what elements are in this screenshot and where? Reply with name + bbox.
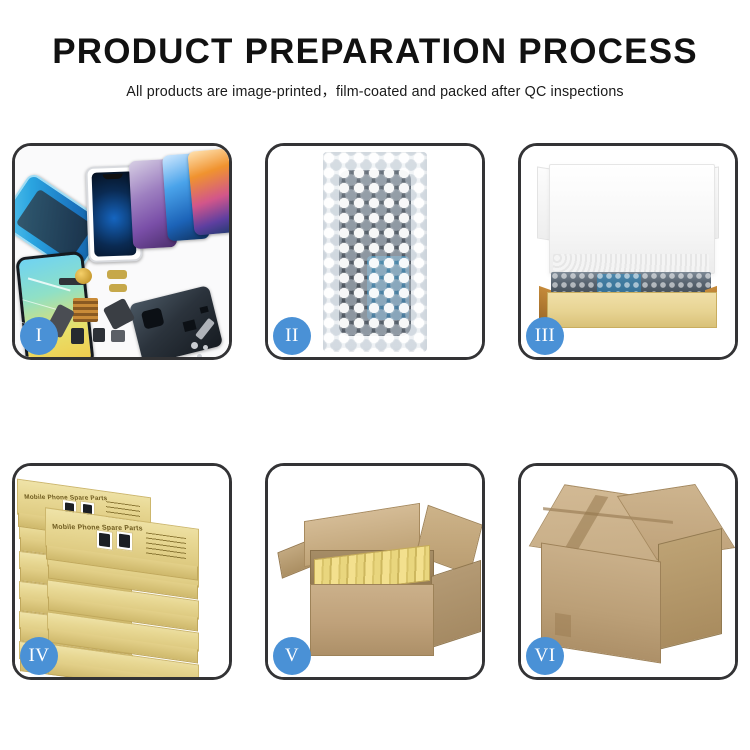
circuit-board-component-icon bbox=[73, 298, 98, 322]
orange-phone-display-image bbox=[187, 148, 229, 235]
step-badge-1: I bbox=[20, 317, 58, 355]
page-title: PRODUCT PREPARATION PROCESS bbox=[0, 34, 750, 71]
kraft-box-base-image bbox=[547, 292, 717, 328]
step-badge-3: III bbox=[526, 317, 564, 355]
step-badge-6: VI bbox=[526, 637, 564, 675]
box-artwork-thumb-d bbox=[116, 530, 133, 551]
step-badge-4: IV bbox=[20, 637, 58, 675]
button-component-icon bbox=[71, 328, 84, 344]
bubble-wrap-texture bbox=[323, 152, 427, 352]
vibrator-component-icon bbox=[93, 328, 105, 342]
process-step-panel-6[interactable]: VI bbox=[518, 463, 738, 680]
process-step-panel-3[interactable]: III bbox=[518, 143, 738, 360]
box-spec-lines-b bbox=[146, 532, 186, 560]
camera-lens-component-icon bbox=[75, 268, 92, 284]
step-badge-2: II bbox=[273, 317, 311, 355]
process-steps-grid: I II III bbox=[12, 143, 738, 680]
process-step-panel-1[interactable]: I bbox=[12, 143, 232, 360]
process-step-panel-2[interactable]: II bbox=[265, 143, 485, 360]
carton-front-panel-image bbox=[310, 584, 434, 656]
bubble-wrapped-parts-row-image bbox=[551, 272, 711, 294]
sealed-carton-side-panel-image bbox=[658, 528, 722, 650]
process-step-panel-5[interactable]: V bbox=[265, 463, 485, 680]
screws-icon bbox=[191, 342, 198, 349]
bubble-wrap-pouch-image bbox=[323, 152, 427, 352]
step-badge-5: V bbox=[273, 637, 311, 675]
box-artwork-thumb-c bbox=[96, 529, 113, 550]
gold-connector-component-icon bbox=[107, 270, 127, 279]
bracket-component-icon bbox=[111, 330, 125, 342]
packing-tape-front-icon bbox=[555, 613, 571, 638]
page-subtitle: All products are image-printed，film-coat… bbox=[0, 80, 750, 101]
process-step-panel-4[interactable]: Mobile Phone Spare Parts Mobile Phone Sp… bbox=[12, 463, 232, 680]
gold-flex-component-icon bbox=[109, 284, 127, 292]
page-header: PRODUCT PREPARATION PROCESS All products… bbox=[0, 0, 750, 101]
